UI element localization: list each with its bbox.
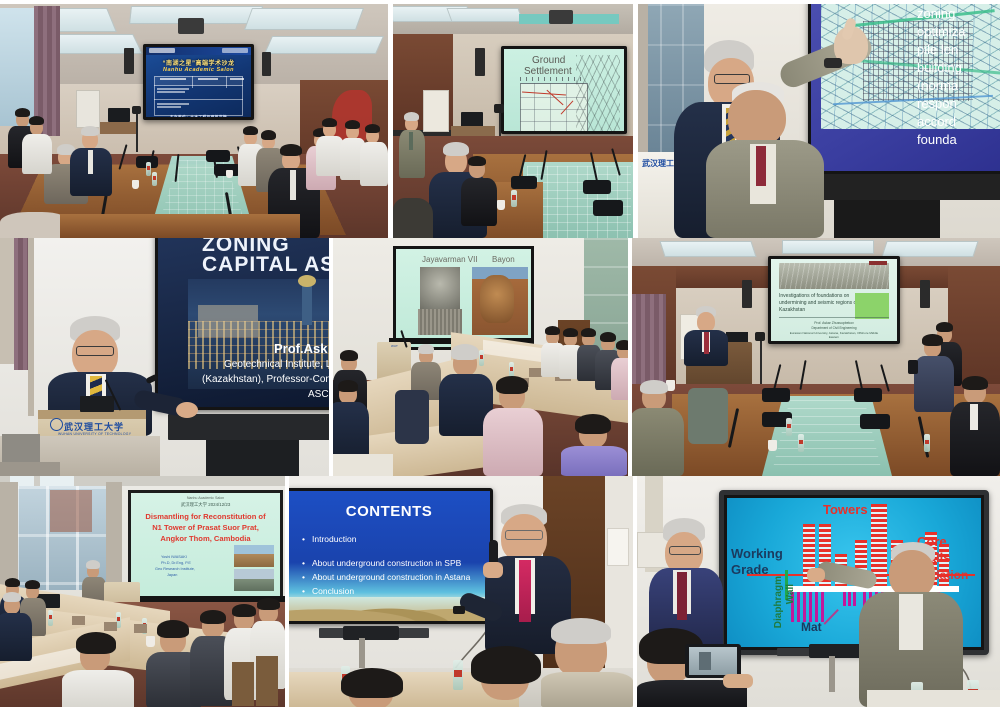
relief-photo-left	[418, 309, 462, 335]
slide-title-line2: CAPITAL ASTA	[202, 253, 329, 277]
attendee	[483, 380, 543, 476]
attendee	[561, 416, 627, 476]
slide-label-right: Bayon	[492, 255, 515, 264]
roll-down-screen: Nanhu Academic Salon 武汉理工大学 2024/12/23 D…	[128, 490, 283, 606]
pile-bar	[843, 592, 846, 606]
water-bottle	[924, 434, 930, 452]
label-dwall: Wall	[785, 584, 796, 604]
collage-row-bottom: Nanhu Academic Salon 武汉理工大学 2024/12/23 D…	[0, 476, 1000, 707]
attendee	[333, 382, 369, 462]
slide-text-line: optimiza	[917, 23, 997, 41]
paper-cup	[497, 200, 505, 210]
slide-author-2: Ph.D, Dr.Eng, P.E	[161, 561, 191, 565]
water-bottle	[146, 162, 151, 176]
pile-bar	[853, 592, 856, 606]
pile-bar	[815, 592, 818, 622]
projector-screen: “南湖之星”高端学术沙龙 Nanhu Academic Salon	[143, 44, 254, 120]
professor-grey-jacket-pointing	[706, 82, 824, 238]
slide-bullet: About underground construction in SPB	[312, 558, 461, 568]
photo-panel-bottom-right[interactable]: Towers Core Walls Working Grade Diaphrag…	[637, 476, 1000, 707]
slide-title-line2: Settlement	[524, 66, 572, 77]
projection-screen: ZONING CAPITAL ASTA Prof.Ask Geotechnica…	[155, 238, 329, 410]
slide-photo-top	[234, 545, 274, 567]
monitor	[108, 108, 130, 122]
photo-panel-middle-center[interactable]: Jayavarman VII Bayon WUT	[333, 238, 628, 476]
photo-panel-top-left[interactable]: “南湖之星”高端学术沙龙 Nanhu Academic Salon	[0, 4, 388, 238]
photo-panel-bottom-center[interactable]: CONTENTS Introduction About underground …	[289, 476, 633, 707]
slide-photo-bottom	[234, 569, 274, 591]
slide-author-4: Japan	[167, 573, 177, 577]
attendee-standing	[399, 114, 425, 178]
name-plate	[72, 616, 85, 625]
slide-text-line: zoning	[917, 5, 997, 23]
water-bottle	[48, 610, 53, 626]
monitor	[461, 112, 483, 127]
paper-cup	[768, 440, 777, 451]
attendee	[360, 124, 388, 184]
slide-footer-cn: 主办单位：土木工程与建筑学院	[146, 115, 251, 117]
slide-text-line: founda	[917, 131, 997, 149]
attendee-foreground	[541, 618, 633, 707]
slide-author: Prof. Askar Zhussupbekov	[771, 321, 897, 325]
camera-tripod	[136, 108, 138, 152]
photographer	[914, 334, 954, 412]
label-towers: Towers	[823, 502, 868, 517]
water-bottle	[152, 172, 157, 186]
slide-text-line: respon	[917, 95, 997, 113]
projector-screen: Investigations of foundations on undermi…	[768, 256, 900, 344]
attendee-foreground	[329, 672, 415, 707]
slide-title-line1: Dismantling for Reconstitution of	[131, 512, 280, 521]
pile-bar	[848, 592, 851, 606]
slide-bullet: Conclusion	[312, 586, 354, 596]
slide-title-line2: N1 Tower of Prasat Suor Prat,	[131, 523, 280, 532]
label-diaphragm: Diaphragm	[773, 576, 784, 628]
statue-photo-left	[420, 267, 460, 309]
photo-panel-middle-left[interactable]: ZONING CAPITAL ASTA Prof.Ask Geotechnica…	[0, 238, 329, 476]
water-bottle	[798, 434, 804, 452]
slide-text-line: accord	[917, 113, 997, 131]
paper-cup	[132, 180, 139, 189]
attendee	[22, 116, 52, 172]
photo-panel-top-right[interactable]: zoning optimiza pile len building (norma…	[638, 4, 1000, 238]
label-working: Working	[731, 546, 783, 561]
pile-bar	[803, 592, 806, 622]
presenter-remote	[453, 606, 465, 614]
attendee	[950, 376, 1000, 476]
attendee	[0, 594, 32, 660]
slide-text-line: (norma	[917, 77, 997, 95]
slide-author-3: Geo Research Institute,	[155, 567, 195, 571]
photo-panel-top-center[interactable]: Ground Settlement	[393, 4, 633, 238]
pile-bar	[797, 592, 800, 622]
attendee	[632, 380, 684, 476]
photo-panel-middle-right[interactable]: Investigations of foundations on undermi…	[632, 238, 1000, 476]
label-grade: Grade	[731, 562, 769, 577]
slide-department: Department of Civil Engineering	[771, 326, 897, 330]
pile-bar	[821, 592, 824, 622]
slide-author-1: Yoshi IWASAKI	[161, 555, 187, 559]
slide-presenter: Prof.Ask	[274, 341, 327, 356]
water-bottle	[786, 418, 792, 436]
photo-panel-bottom-left[interactable]: Nanhu Academic Salon 武汉理工大学 2024/12/23 D…	[0, 476, 285, 707]
slide-text-line: pile len	[917, 41, 997, 59]
photo-collage: “南湖之星”高端学术沙龙 Nanhu Academic Salon	[0, 0, 1000, 709]
ceiling-projector-icon	[178, 18, 204, 34]
projector-screen: Ground Settlement	[501, 46, 627, 134]
slide-affiliation-1: Geotechnical Institute, L	[224, 359, 329, 370]
slide-text-line: building	[917, 59, 997, 77]
attendee	[70, 124, 112, 194]
slide-header-cn: 武汉理工大学 2024/12/23	[131, 502, 280, 508]
slide-title-line1: Ground	[532, 55, 565, 66]
slide-title: CONTENTS	[289, 503, 490, 520]
pile-bar	[809, 592, 812, 622]
slide-bullet: Introduction	[312, 534, 356, 544]
slide-heading-en: Nanhu Academic Salon	[146, 67, 251, 73]
paper-cup	[226, 170, 233, 178]
ceiling-projector-icon	[549, 10, 573, 24]
attendee	[62, 636, 134, 707]
smartphone-icon	[908, 360, 918, 374]
slide-bullet: About underground construction in Astana	[312, 572, 470, 582]
slide-title-line3: Angkor Thom, Cambodia	[131, 534, 280, 543]
name-plate	[104, 622, 117, 631]
label-mat: Mat	[801, 620, 822, 634]
slide-title: Investigations of foundations on undermi…	[779, 293, 863, 314]
speaker-at-lectern	[684, 306, 728, 366]
slide-institution: Eurasian National University, Astana, Ka…	[785, 331, 883, 339]
laptop	[80, 396, 114, 412]
collage-row-top: “南湖之星”高端学术沙龙 Nanhu Academic Salon	[0, 0, 1000, 238]
large-display: zoning optimiza pile len building (norma…	[808, 4, 1000, 174]
slide-affiliation-2: (Kazakhstan), Professor-Consu	[202, 374, 329, 385]
slide-heading-cn: “南湖之星”高端学术沙龙	[146, 58, 251, 67]
phone-screen	[689, 647, 737, 675]
slide-affiliation-3: ASCE(GI	[308, 389, 329, 400]
slide-header-en: Nanhu Academic Salon	[131, 496, 280, 500]
attendee	[611, 342, 628, 398]
attendee-seated	[461, 156, 497, 226]
collage-row-middle: ZONING CAPITAL ASTA Prof.Ask Geotechnica…	[0, 238, 1000, 476]
water-bottle	[511, 190, 517, 207]
slide-label-left: Jayavarman VII	[422, 255, 478, 264]
